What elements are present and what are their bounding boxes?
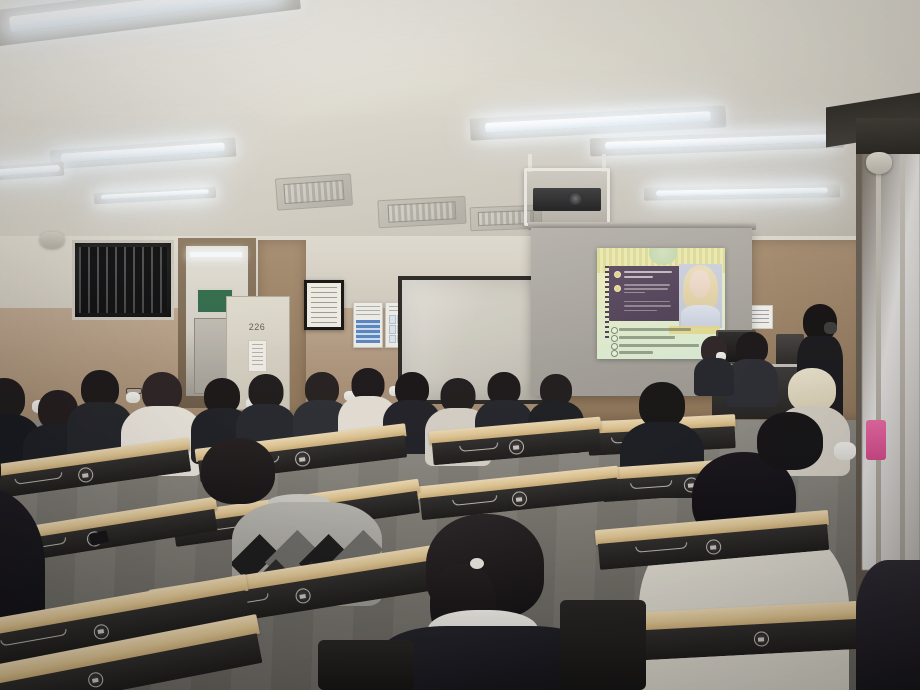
fluorescent-tube [0, 165, 60, 176]
window-mullion [876, 150, 881, 570]
window-mullion [900, 150, 905, 570]
school-emblem [508, 439, 524, 455]
school-emblem [87, 671, 105, 689]
desk-handle [0, 629, 68, 647]
window-header-beam [856, 118, 920, 154]
desk-handle [635, 542, 688, 553]
hair-tie [470, 558, 484, 569]
school-emblem [705, 539, 721, 555]
ac-vent [377, 196, 466, 229]
fluorescent-tube [605, 134, 829, 150]
desk-handle [14, 472, 62, 485]
high-window-vent [72, 240, 174, 320]
school-emblem [294, 451, 311, 468]
photo-shirt [681, 305, 720, 328]
chair-back [560, 600, 646, 690]
desk-handle [459, 442, 498, 451]
school-emblem [511, 491, 527, 507]
door-notice-paper [248, 340, 267, 372]
school-emblem [77, 466, 94, 483]
chair-back [318, 640, 414, 690]
fluorescent-tube [101, 190, 208, 201]
projector-lens [568, 192, 583, 205]
pink-bag-accent [866, 420, 886, 460]
wall-speaker [40, 232, 64, 248]
fluorescent-tube [656, 187, 829, 196]
corridor-ceiling-light [190, 252, 242, 257]
ceiling-projector [524, 168, 610, 226]
face-mask [824, 322, 837, 334]
window-daylight [862, 150, 920, 570]
face-mask [126, 392, 140, 403]
classroom-photo: 226 [0, 0, 920, 690]
desk-handle [630, 480, 672, 489]
ac-vent [275, 173, 353, 210]
statistics-poster [353, 302, 383, 348]
face-mask [834, 442, 856, 460]
school-emblem [294, 587, 311, 604]
school-emblem [754, 631, 770, 647]
projector-body [533, 188, 602, 211]
wall-speaker [866, 152, 892, 174]
slide-person-photo [679, 264, 721, 328]
room-number-label: 226 [244, 322, 270, 332]
school-emblem [93, 623, 110, 640]
head [757, 412, 823, 470]
torso [694, 358, 734, 396]
framed-wall-notice [304, 280, 344, 330]
desk-handle [452, 495, 498, 506]
head [201, 438, 275, 504]
torso [856, 560, 920, 690]
